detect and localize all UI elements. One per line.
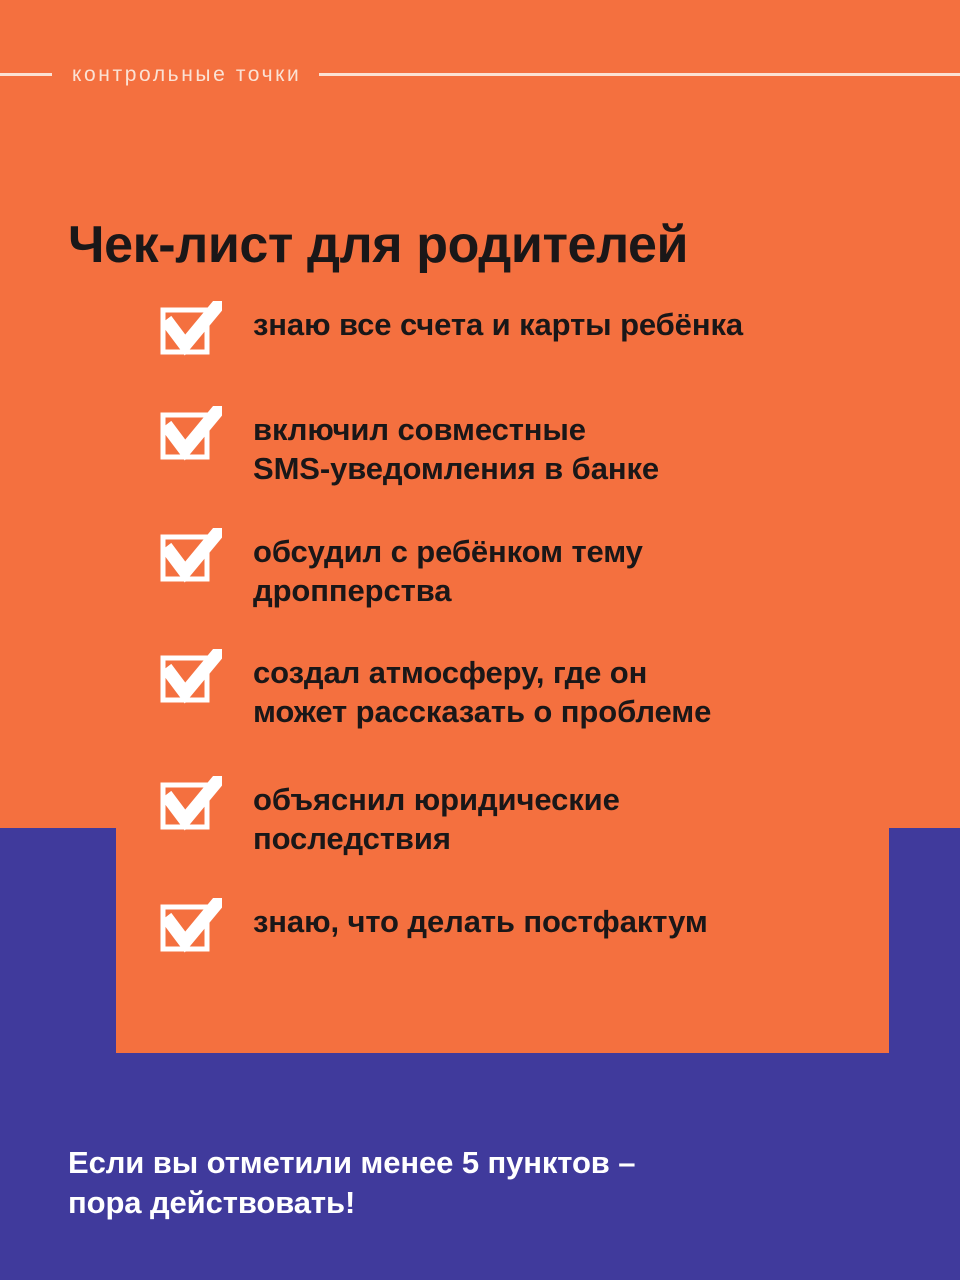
checked-checkbox-icon[interactable]	[160, 528, 222, 588]
checked-checkbox-icon[interactable]	[160, 898, 222, 958]
footer-callout: Если вы отметили менее 5 пунктов – пора …	[68, 1143, 868, 1224]
checked-checkbox-icon[interactable]	[160, 776, 222, 836]
list-item[interactable]: включил совместные SMS-уведомления в бан…	[160, 405, 659, 488]
list-item[interactable]: знаю все счета и карты ребёнка	[160, 300, 743, 361]
kicker-label: контрольные точки	[52, 64, 319, 85]
list-item[interactable]: объяснил юридические последствия	[160, 775, 620, 858]
horizontal-rule-icon-right	[319, 73, 960, 76]
list-item-label: знаю все счета и карты ребёнка	[222, 305, 743, 344]
list-item[interactable]: знаю, что делать постфактум	[160, 897, 708, 958]
checked-checkbox-icon[interactable]	[160, 649, 222, 709]
list-item-label: создал атмосферу, где он может рассказат…	[222, 653, 711, 731]
horizontal-rule-icon-left	[0, 73, 52, 76]
list-item-label: объяснил юридические последствия	[222, 780, 620, 858]
list-item-label: включил совместные SMS-уведомления в бан…	[222, 410, 659, 488]
poster-canvas: контрольные точки Чек-лист для родителей…	[0, 0, 960, 1280]
list-item[interactable]: обсудил с ребёнком тему дропперства	[160, 527, 643, 610]
list-item-label: обсудил с ребёнком тему дропперства	[222, 532, 643, 610]
list-item-label: знаю, что делать постфактум	[222, 902, 708, 941]
page-title: Чек-лист для родителей	[68, 217, 888, 273]
list-item[interactable]: создал атмосферу, где он может рассказат…	[160, 648, 711, 731]
checked-checkbox-icon[interactable]	[160, 406, 222, 466]
kicker-row: контрольные точки	[0, 58, 960, 90]
checked-checkbox-icon[interactable]	[160, 301, 222, 361]
